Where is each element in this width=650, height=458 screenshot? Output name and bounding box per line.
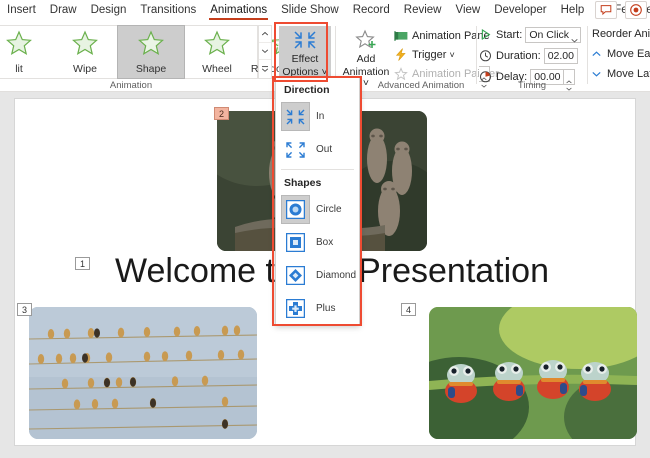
animation-badge-4[interactable]: 4 [401,303,416,316]
ribbon-group-timing: Start: On Click Duration: 02.00 [477,22,587,92]
diamond-shape-icon [282,262,309,289]
animation-badge-3[interactable]: 3 [17,303,32,316]
star-icon [72,30,98,56]
gallery-item-wheel[interactable]: Wheel [184,26,250,78]
tab-draw[interactable]: Draw [43,0,84,21]
menu-item-label: Plus [316,303,335,315]
animation-painter-icon [394,67,409,81]
animation-pane-icon [394,30,409,44]
effect-options-label-line1: Effect [279,54,331,66]
gallery-item-label: lit [0,63,52,75]
trigger-label: Trigger [412,49,446,61]
gallery-item-label: Wipe [52,63,118,75]
duration-label: Duration: [496,47,541,65]
move-earlier-button[interactable]: Move Earli [592,48,650,60]
menu-item-circle[interactable]: Circle [276,193,359,226]
menu-item-label: Diamond [316,270,356,282]
star-icon [6,30,32,56]
tab-developer[interactable]: Developer [487,0,553,21]
tab-transitions[interactable]: Transitions [133,0,203,21]
move-earlier-label: Move Earli [607,48,650,60]
group-label-timing: Timing [477,80,587,91]
record-icon[interactable] [625,1,647,19]
star-icon [204,30,230,56]
tab-review[interactable]: Review [397,0,449,21]
start-value: On Click [529,28,569,43]
tab-insert[interactable]: Insert [0,0,43,21]
gallery-more-button[interactable] [259,60,271,77]
animation-gallery[interactable]: lit Wipe Shape [0,25,258,79]
play-icon [479,28,493,42]
tab-record[interactable]: Record [346,0,397,21]
clock-icon [479,49,493,63]
powerpoint-window: InsertDrawDesignTransitionsAnimationsSli… [0,0,650,458]
tab-help[interactable]: Help [554,0,592,21]
start-row: Start: On Click [479,26,581,44]
gallery-scroll-buttons [258,25,272,79]
gallery-item-split[interactable]: lit [0,26,52,78]
group-label-animation: Animation [0,80,262,91]
menu-section-header-direction: Direction [276,78,359,100]
chevron-down-icon [592,68,604,80]
tab-slide-show[interactable]: Slide Show [274,0,346,21]
gallery-item-shape[interactable]: Shape [118,26,184,78]
chevron-down-icon [571,33,578,48]
start-label: Start: [496,26,522,44]
gallery-item-label: Wheel [184,63,250,75]
arrows-in-icon [279,29,331,53]
tab-design[interactable]: Design [84,0,134,21]
start-dropdown[interactable]: On Click [525,27,581,43]
birds-on-wires-photo[interactable] [29,307,257,439]
ribbon-group-animation: lit Wipe Shape [0,22,272,92]
menu-item-out[interactable]: Out [276,133,359,166]
menu-item-label: Out [316,144,332,156]
chevron-down-icon: ˅ [321,66,327,78]
animation-badge-2[interactable]: 2 [214,107,229,120]
menu-item-box[interactable]: Box [276,226,359,259]
move-later-label: Move Late [607,68,650,80]
menu-item-label: In [316,111,324,123]
arrows-out-icon [282,136,309,163]
plus-shape-icon [282,295,309,322]
frogs-on-branch-photo[interactable] [429,307,637,439]
comment-icon[interactable] [595,1,617,19]
menu-item-diamond[interactable]: Diamond [276,259,359,292]
gallery-scroll-down-button[interactable] [259,43,271,60]
add-animation-icon [340,29,392,53]
titlebar-buttons [591,1,647,21]
tab-animations[interactable]: Animations [203,0,274,21]
reorder-animation-title: Reorder Anima [592,28,650,40]
menu-item-plus[interactable]: Plus [276,292,359,325]
gallery-item-wipe[interactable]: Wipe [52,26,118,78]
menu-item-in[interactable]: In [276,100,359,133]
add-animation-label-line1: Add [340,54,392,66]
chevron-up-icon [592,48,604,60]
group-label-advanced-animation: Advanced Animation [346,80,496,91]
gallery-scroll-up-button[interactable] [259,26,271,43]
duration-row: Duration: 02.00 [479,47,587,65]
menu-item-label: Box [316,237,333,249]
ribbon-group-reorder-animation: Reorder Anima Move Earli Move Late [590,22,650,92]
arrows-in-icon [282,103,309,130]
menu-section-header-shapes: Shapes [276,171,359,193]
add-animation-button[interactable]: Add Animation ˅ [340,26,392,78]
ribbon-tab-strip: InsertDrawDesignTransitionsAnimationsSli… [0,0,650,22]
duration-value: 02.00 [548,49,574,64]
circle-shape-icon [282,196,309,223]
duration-input[interactable]: 02.00 [544,48,578,64]
effect-options-menu[interactable]: Direction In [275,77,360,325]
trigger-icon [394,48,409,62]
chevron-down-icon: ˅ [450,50,455,60]
effect-options-button[interactable]: Effect Options ˅ [279,26,331,78]
trigger-button[interactable]: Trigger ˅ [394,47,455,64]
menu-separator [281,169,354,170]
gallery-item-label: Shape [118,63,184,75]
move-later-button[interactable]: Move Late [592,68,650,80]
animation-badge-1[interactable]: 1 [75,257,90,270]
star-icon [138,30,164,56]
group-separator [587,26,588,84]
menu-item-label: Circle [316,204,342,216]
box-shape-icon [282,229,309,256]
tab-view[interactable]: View [448,0,487,21]
